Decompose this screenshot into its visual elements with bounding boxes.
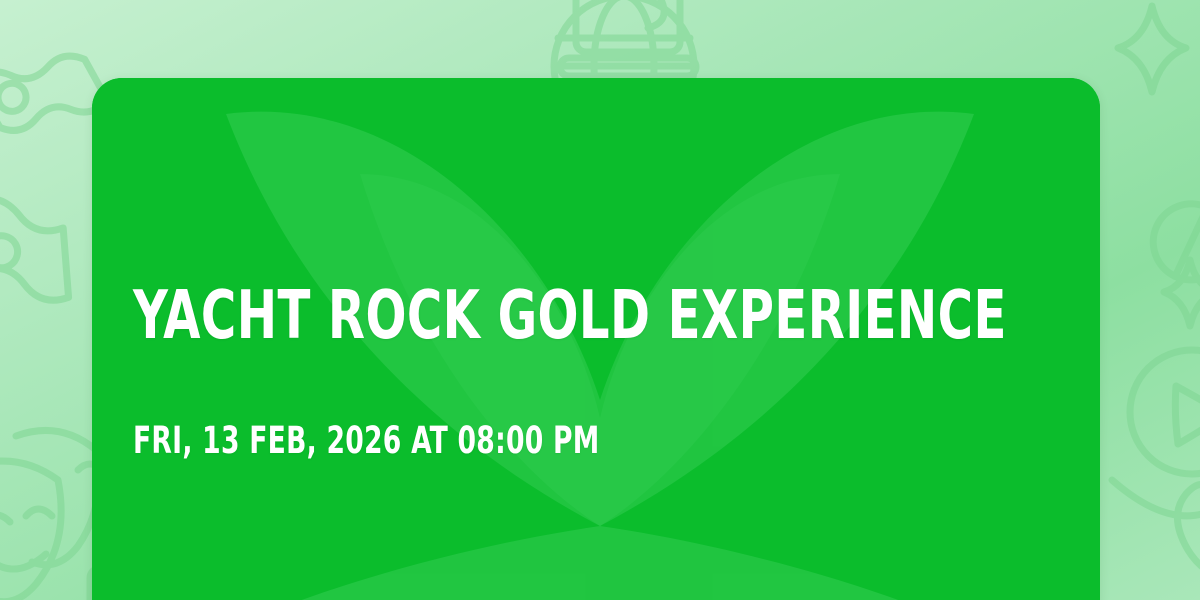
ticket-icon: [0, 195, 87, 362]
theater-masks-icon: [0, 430, 102, 600]
event-card[interactable]: YACHT ROCK GOLD EXPERIENCE FRI, 13 FEB, …: [92, 78, 1100, 600]
event-card-content: YACHT ROCK GOLD EXPERIENCE FRI, 13 FEB, …: [133, 78, 1063, 600]
sparkle-icon: [1118, 6, 1186, 92]
sparkle-icon: [1164, 260, 1200, 326]
microphone-icon: [1143, 187, 1200, 307]
calendar-icon: [560, 0, 696, 76]
event-banner: YACHT ROCK GOLD EXPERIENCE FRI, 13 FEB, …: [0, 0, 1200, 600]
event-datetime: FRI, 13 FEB, 2026 AT 08:00 PM: [133, 422, 600, 459]
event-title: YACHT ROCK GOLD EXPERIENCE: [133, 282, 1007, 349]
play-circle-icon: [1130, 350, 1200, 474]
music-note-icon: [1112, 480, 1200, 600]
